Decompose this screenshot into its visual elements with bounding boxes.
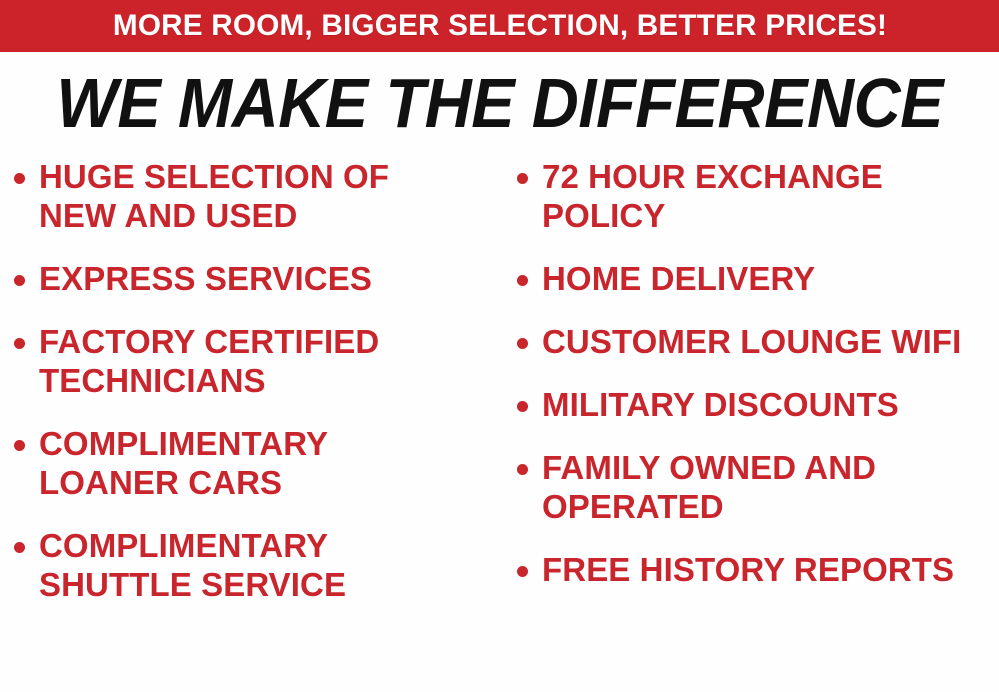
features-right-column: 72 HOUR EXCHANGE POLICY HOME DELIVERY CU… bbox=[505, 158, 999, 614]
list-item: FAMILY OWNED AND OPERATED bbox=[517, 449, 999, 527]
feature-label: CUSTOMER LOUNGE WIFI bbox=[542, 323, 961, 362]
bullet-dot-icon bbox=[14, 338, 25, 349]
bullet-dot-icon bbox=[14, 173, 25, 184]
list-item: COMPLIMENTARY LOANER CARS bbox=[14, 425, 505, 503]
list-item: 72 HOUR EXCHANGE POLICY bbox=[517, 158, 999, 236]
promo-poster: MORE ROOM, BIGGER SELECTION, BETTER PRIC… bbox=[0, 0, 999, 692]
list-item: HOME DELIVERY bbox=[517, 260, 999, 299]
list-item: EXPRESS SERVICES bbox=[14, 260, 505, 299]
bullet-dot-icon bbox=[517, 464, 528, 475]
list-item: CUSTOMER LOUNGE WIFI bbox=[517, 323, 999, 362]
bullet-dot-icon bbox=[517, 566, 528, 577]
feature-label: HUGE SELECTION OF NEW AND USED bbox=[39, 158, 469, 236]
bullet-dot-icon bbox=[14, 275, 25, 286]
list-item: FACTORY CERTIFIED TECHNICIANS bbox=[14, 323, 505, 401]
bullet-dot-icon bbox=[517, 401, 528, 412]
banner-headline-text: MORE ROOM, BIGGER SELECTION, BETTER PRIC… bbox=[112, 11, 886, 41]
bullet-dot-icon bbox=[14, 440, 25, 451]
top-banner: MORE ROOM, BIGGER SELECTION, BETTER PRIC… bbox=[0, 0, 999, 52]
bullet-dot-icon bbox=[14, 542, 25, 553]
features-columns: HUGE SELECTION OF NEW AND USED EXPRESS S… bbox=[0, 158, 999, 692]
bullet-dot-icon bbox=[517, 275, 528, 286]
feature-label: FACTORY CERTIFIED TECHNICIANS bbox=[39, 323, 469, 401]
headline-area: WE MAKE THE DIFFERENCE bbox=[0, 62, 999, 144]
feature-label: FREE HISTORY REPORTS bbox=[542, 551, 954, 590]
features-left-column: HUGE SELECTION OF NEW AND USED EXPRESS S… bbox=[0, 158, 505, 628]
feature-label: COMPLIMENTARY SHUTTLE SERVICE bbox=[39, 527, 469, 605]
list-item: HUGE SELECTION OF NEW AND USED bbox=[14, 158, 505, 236]
list-item: FREE HISTORY REPORTS bbox=[517, 551, 999, 590]
bullet-dot-icon bbox=[517, 338, 528, 349]
bullet-dot-icon bbox=[517, 173, 528, 184]
feature-label: EXPRESS SERVICES bbox=[39, 260, 372, 299]
page-title: WE MAKE THE DIFFERENCE bbox=[56, 68, 943, 138]
feature-label: HOME DELIVERY bbox=[542, 260, 815, 299]
feature-label: MILITARY DISCOUNTS bbox=[542, 386, 899, 425]
list-item: MILITARY DISCOUNTS bbox=[517, 386, 999, 425]
list-item: COMPLIMENTARY SHUTTLE SERVICE bbox=[14, 527, 505, 605]
feature-label: COMPLIMENTARY LOANER CARS bbox=[39, 425, 469, 503]
feature-label: FAMILY OWNED AND OPERATED bbox=[542, 449, 999, 527]
feature-label: 72 HOUR EXCHANGE POLICY bbox=[542, 158, 999, 236]
